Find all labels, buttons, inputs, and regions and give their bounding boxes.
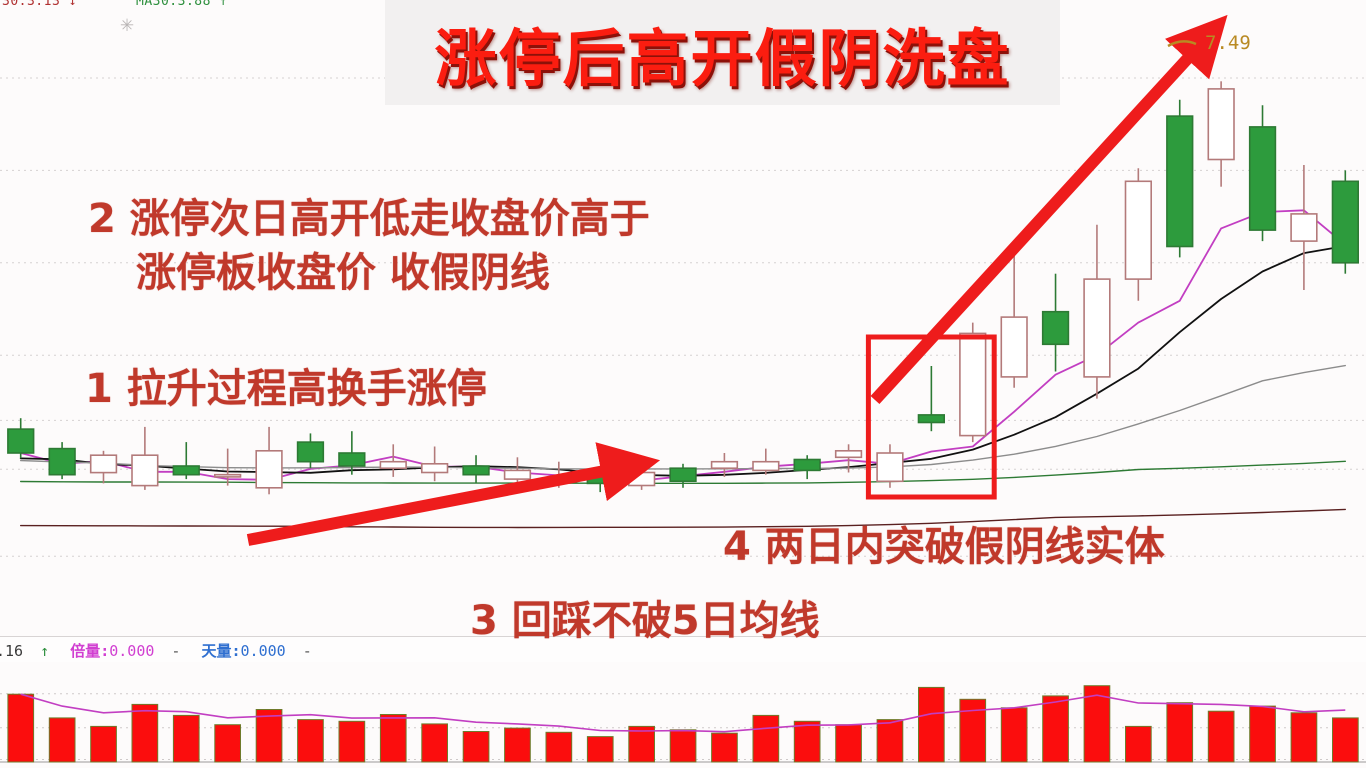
volume-bar — [1167, 703, 1193, 762]
volume-bar — [1001, 708, 1027, 762]
candle — [173, 442, 199, 479]
status-value: .16 — [0, 642, 23, 660]
candle — [298, 433, 324, 468]
volume-chart-pane[interactable] — [0, 662, 1366, 768]
volume-bar — [753, 715, 779, 762]
volume-bar — [8, 694, 34, 762]
volume-bar — [587, 737, 613, 762]
candle — [877, 444, 903, 488]
volume-bar — [960, 699, 986, 762]
volume-bar — [546, 732, 572, 762]
volume-bar — [91, 726, 117, 762]
volume-bar — [422, 724, 448, 762]
annotation-2-line2: 涨停板收盘价 收假阴线 — [136, 246, 650, 300]
candle — [91, 451, 117, 484]
price-tag-label: 7.49 — [1205, 32, 1251, 54]
candle — [256, 427, 282, 494]
volume-chart-svg — [0, 662, 1366, 768]
asterisk-marker: ✳ — [118, 17, 136, 35]
volume-bar — [1291, 713, 1317, 762]
candle — [8, 418, 34, 458]
volume-bar — [919, 687, 945, 762]
volume-bar — [877, 720, 903, 762]
volume-bar — [256, 710, 282, 763]
candle — [919, 366, 945, 431]
candle — [1084, 225, 1110, 399]
candle — [1250, 105, 1276, 241]
title-banner: 涨停后高开假阴洗盘 — [385, 0, 1060, 105]
volume-bar — [339, 721, 365, 762]
volume-bar — [1208, 711, 1234, 762]
volume-bar — [712, 733, 738, 762]
chart-screenshot: 30.3.13 ↓ MA30:3.88 ↑ ✳ 涨停后高开假阴洗盘 7.49 2… — [0, 0, 1366, 768]
volume-bar — [1250, 706, 1276, 762]
candle — [1043, 274, 1069, 372]
candle — [132, 427, 158, 490]
volume-bar — [836, 725, 862, 762]
volume-bar — [1333, 718, 1359, 762]
volume-bar — [380, 715, 406, 763]
annotation-1: 1 拉升过程高换手涨停 — [85, 356, 487, 414]
annotation-2: 2 涨停次日高开低走收盘价高于 涨停板收盘价 收假阴线 — [88, 192, 650, 300]
volume-bar — [794, 721, 820, 762]
candle — [960, 323, 986, 443]
volume-bar — [298, 720, 324, 762]
volume-bar — [463, 732, 489, 763]
status-key-tianliang: 天量: — [201, 640, 240, 661]
volume-bar — [49, 718, 75, 762]
status-value-tianliang: 0.000 — [241, 642, 286, 660]
candle — [794, 455, 820, 479]
candle — [463, 455, 489, 483]
candle — [670, 464, 696, 488]
candle — [422, 447, 448, 482]
candle — [1167, 100, 1193, 258]
annotation-2-line1: 2 涨停次日高开低走收盘价高于 — [88, 196, 650, 242]
candle — [49, 442, 75, 479]
candle — [1291, 165, 1317, 290]
candle — [629, 460, 655, 490]
status-value-beiliang: 0.000 — [109, 642, 154, 660]
volume-bar — [670, 730, 696, 762]
candle — [1333, 170, 1359, 273]
volume-bar — [1043, 696, 1069, 762]
status-up-arrow-icon: ↑ — [40, 642, 49, 660]
annotation-3: 3 回踩不破5日均线 — [470, 588, 820, 646]
candle — [1126, 168, 1152, 301]
annotation-4: 4 两日内突破假阴线实体 — [723, 514, 1165, 572]
volume-bar — [173, 715, 199, 762]
status-key-beiliang: 倍量: — [70, 640, 109, 661]
page-title: 涨停后高开假阴洗盘 — [434, 8, 1010, 98]
candle — [753, 449, 779, 475]
candle — [380, 444, 406, 477]
volume-bar — [505, 728, 531, 762]
status-dash-2: - — [303, 642, 312, 660]
status-dash-1: - — [171, 642, 180, 660]
volume-bar — [1126, 726, 1152, 762]
volume-bar — [132, 704, 158, 762]
volume-bar — [215, 725, 241, 762]
